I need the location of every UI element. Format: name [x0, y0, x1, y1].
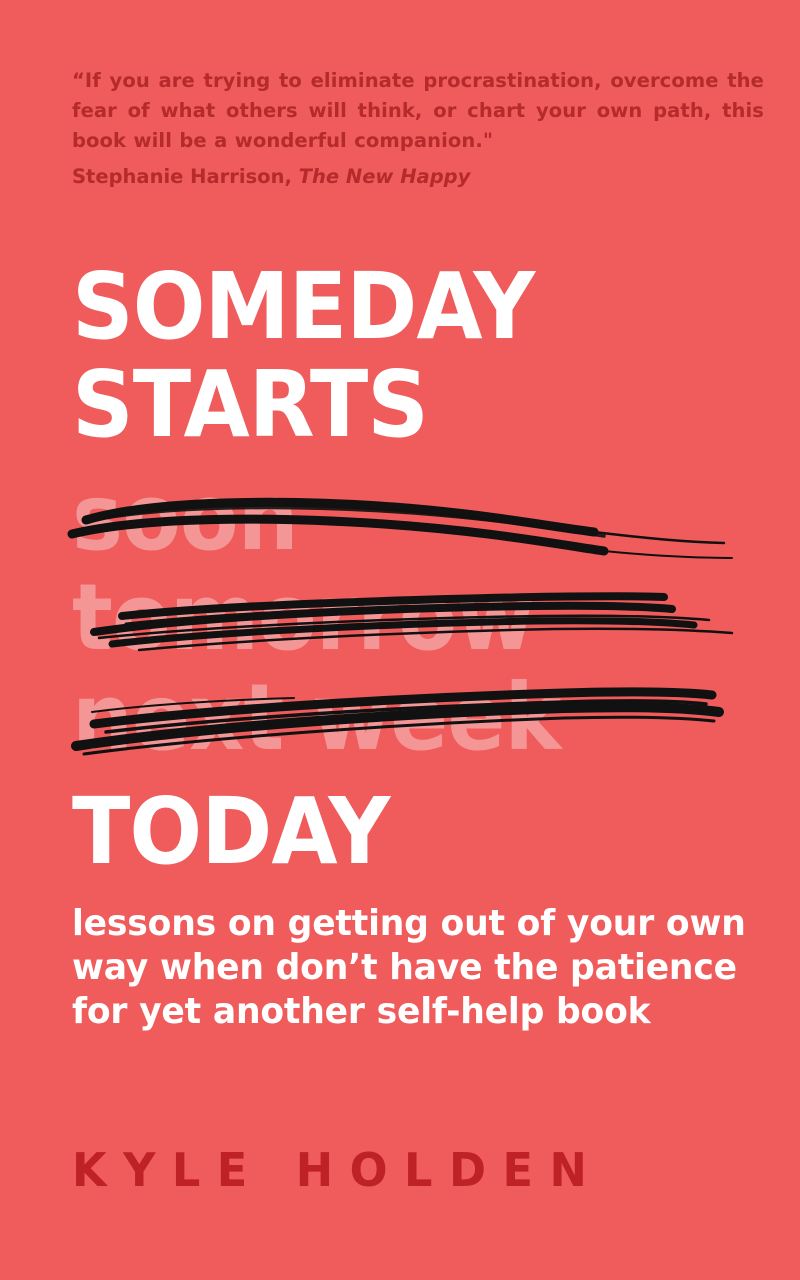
title-line-today: TODAY	[72, 786, 389, 878]
crossed-word-soon: soon	[72, 472, 298, 564]
crossed-word-tomorrow: tomorrow	[72, 572, 534, 664]
title-line-someday: SOMEDAY	[72, 268, 723, 346]
subtitle: lessons on getting out of your own way w…	[72, 902, 725, 1034]
subtitle-line-1: lessons on getting out of your own	[72, 902, 725, 946]
endorsement-blurb: “If you are trying to eliminate procrast…	[72, 66, 764, 190]
author-name: KYLE HOLDEN	[72, 1142, 712, 1198]
crossed-out-row-next-week: next week	[72, 672, 792, 772]
blurb-quote-text: “If you are trying to eliminate procrast…	[72, 66, 764, 156]
book-cover: “If you are trying to eliminate procrast…	[0, 0, 800, 1280]
crossed-out-words-group: soon tomorrow	[72, 472, 792, 792]
blurb-attribution: Stephanie Harrison, The New Happy	[72, 164, 764, 190]
subtitle-line-2: way when don’t have the patience	[72, 946, 725, 990]
crossed-out-row-soon: soon	[72, 472, 792, 572]
subtitle-line-3: for yet another self-help book	[72, 990, 725, 1034]
title-line-starts: STARTS	[72, 366, 723, 444]
blurb-attribution-name: Stephanie Harrison,	[72, 165, 292, 188]
crossed-out-row-tomorrow: tomorrow	[72, 572, 792, 672]
blurb-attribution-book-title: The New Happy	[299, 165, 471, 188]
crossed-word-next-week: next week	[72, 672, 560, 764]
main-title: SOMEDAY STARTS	[72, 268, 772, 444]
